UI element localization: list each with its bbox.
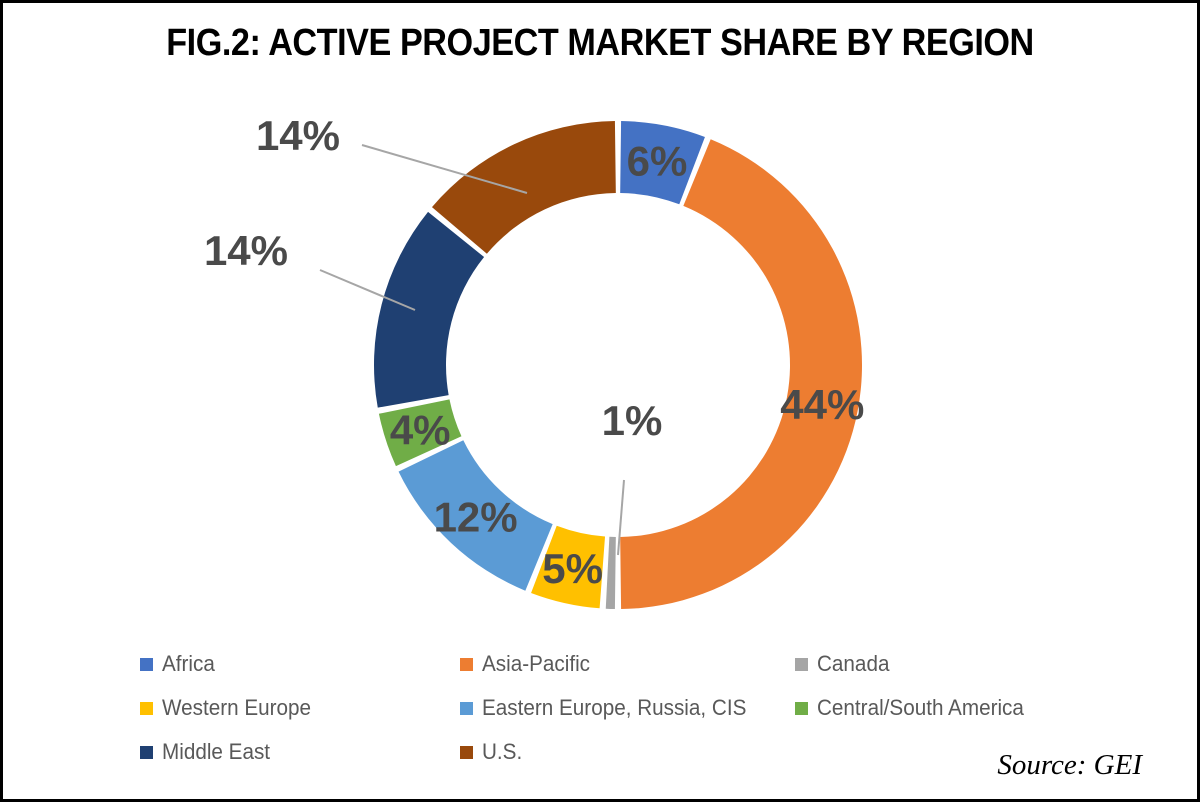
slice-label: 1% <box>602 397 663 444</box>
slice-label: 12% <box>434 494 518 541</box>
legend-swatch-icon <box>795 702 808 715</box>
legend: AfricaAsia-PacificCanadaWestern EuropeEa… <box>140 642 1040 774</box>
slice-label: 6% <box>627 138 688 185</box>
page-title: FIG.2: ACTIVE PROJECT MARKET SHARE BY RE… <box>60 22 1140 65</box>
legend-label: Africa <box>162 651 215 677</box>
donut-slice[interactable] <box>606 537 616 609</box>
legend-swatch-icon <box>795 658 808 671</box>
donut-chart-svg: 6%44%1%5%12%4%14%14% <box>0 85 1200 635</box>
legend-swatch-icon <box>140 702 153 715</box>
slice-label: 44% <box>780 381 864 428</box>
legend-label: U.S. <box>482 739 522 765</box>
slice-label: 14% <box>256 112 340 159</box>
legend-item[interactable]: Asia-Pacific <box>460 651 795 677</box>
legend-label: Middle East <box>162 739 270 765</box>
legend-label: Asia-Pacific <box>482 651 590 677</box>
legend-swatch-icon <box>460 746 473 759</box>
legend-label: Eastern Europe, Russia, CIS <box>482 695 746 721</box>
legend-row: AfricaAsia-PacificCanada <box>140 642 1040 686</box>
legend-row: Western EuropeEastern Europe, Russia, CI… <box>140 686 1040 730</box>
slice-label: 4% <box>390 406 451 453</box>
legend-swatch-icon <box>140 746 153 759</box>
legend-item[interactable]: Middle East <box>140 739 460 765</box>
legend-label: Central/South America <box>817 695 1024 721</box>
legend-label: Western Europe <box>162 695 311 721</box>
legend-item[interactable]: U.S. <box>460 739 795 765</box>
donut-slice[interactable] <box>432 121 616 254</box>
source-note: Source: GEI <box>997 749 1142 782</box>
legend-label: Canada <box>817 651 889 677</box>
legend-item[interactable]: Central/South America <box>795 695 1040 721</box>
donut-slice[interactable] <box>374 212 484 408</box>
legend-item[interactable]: Africa <box>140 651 460 677</box>
legend-swatch-icon <box>140 658 153 671</box>
legend-item[interactable]: Western Europe <box>140 695 460 721</box>
legend-row: Middle EastU.S. <box>140 730 1040 774</box>
donut-slice[interactable] <box>620 139 862 609</box>
legend-swatch-icon <box>460 658 473 671</box>
legend-item[interactable]: Canada <box>795 651 1040 677</box>
slice-label: 5% <box>542 545 603 592</box>
legend-item[interactable]: Eastern Europe, Russia, CIS <box>460 695 795 721</box>
slice-label: 14% <box>204 227 288 274</box>
legend-swatch-icon <box>460 702 473 715</box>
donut-chart: 6%44%1%5%12%4%14%14% <box>0 85 1200 635</box>
